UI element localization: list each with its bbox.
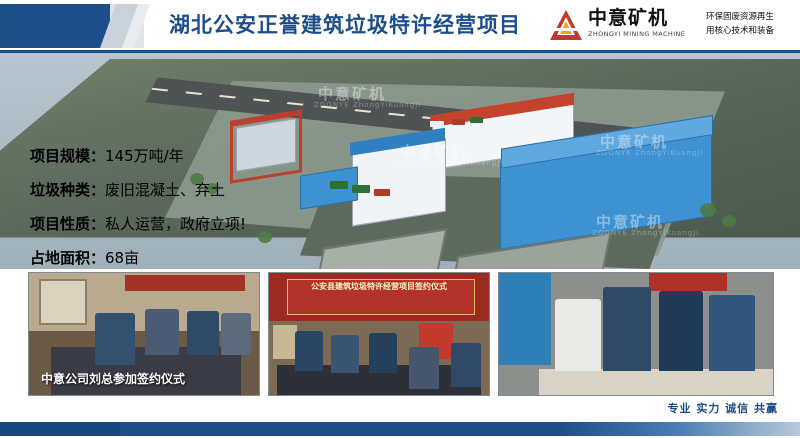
photo3-person-3 bbox=[659, 291, 703, 371]
photo1-banner bbox=[125, 275, 245, 291]
spec-label-waste-type: 垃圾种类： bbox=[30, 181, 105, 199]
photo1-window bbox=[39, 279, 87, 325]
photo-signing-ceremony: 公安县建筑垃圾特许经营项目签约仪式 bbox=[268, 272, 490, 396]
render-tree-4 bbox=[722, 215, 736, 227]
photo2-person-1 bbox=[295, 331, 323, 371]
photo2-person-5 bbox=[451, 343, 481, 387]
render-truck-6 bbox=[470, 117, 483, 123]
zoonye-triangle-logo-icon bbox=[548, 8, 584, 44]
spec-value-scale: 145万吨/年 bbox=[105, 147, 184, 165]
photo2-person-4 bbox=[409, 347, 439, 389]
logo-tagline-line2: 用核心技术和装备 bbox=[706, 24, 774, 38]
watermark-2-sub: ZOONYE ZhongYiKuangJi bbox=[396, 159, 503, 167]
watermark-1-sub: ZOONYE ZhongYiKuangJi bbox=[596, 149, 703, 157]
photo3-person-1 bbox=[555, 299, 601, 371]
spec-value-area: 68亩 bbox=[105, 249, 139, 267]
render-tree-3 bbox=[700, 203, 716, 217]
logo-company-name-cn: 中意矿机 bbox=[588, 8, 668, 29]
photo1-caption: 中意公司刘总参加签约仪式 bbox=[41, 370, 185, 387]
footer-bar bbox=[0, 422, 800, 436]
watermark-3-sub: ZOONYE ZhongYiKuangJi bbox=[592, 229, 699, 237]
spec-row-area: 占地面积：68亩 bbox=[30, 248, 300, 268]
project-spec-list: 项目规模：145万吨/年 垃圾种类：废旧混凝土、弃土 项目性质：私人运营，政府立… bbox=[30, 146, 300, 282]
photo2-person-3 bbox=[369, 333, 397, 373]
photo-signing-office: 中意公司刘总参加签约仪式 bbox=[28, 272, 260, 396]
photo-strip: 中意公司刘总参加签约仪式 公安县建筑垃圾特许经营项目签约仪式 bbox=[28, 272, 772, 394]
footer-slogan: 专业 实力 诚信 共赢 bbox=[668, 400, 779, 416]
render-truck-1 bbox=[330, 181, 348, 189]
spec-label-scale: 项目规模： bbox=[30, 147, 105, 165]
logo-company-name-en: ZHONGYI MINING MACHINE bbox=[588, 30, 685, 38]
spec-label-area: 占地面积： bbox=[30, 249, 105, 267]
photo1-person-1 bbox=[95, 313, 135, 365]
slide-root: 湖北公安正誉建筑垃圾特许经营项目 中意矿机 ZHONGYI MINING MAC… bbox=[0, 0, 800, 438]
spec-label-nature: 项目性质： bbox=[30, 215, 105, 233]
page-title: 湖北公安正誉建筑垃圾特许经营项目 bbox=[150, 10, 540, 40]
render-truck-4 bbox=[430, 121, 444, 127]
spec-row-scale: 项目规模：145万吨/年 bbox=[30, 146, 300, 166]
logo-tagline: 环保固废资源再生 用核心技术和装备 bbox=[706, 10, 774, 38]
photo1-person-3 bbox=[187, 311, 219, 355]
spec-row-waste-type: 垃圾种类：废旧混凝土、弃土 bbox=[30, 180, 300, 200]
photo3-person-4 bbox=[709, 295, 755, 371]
spec-value-waste-type: 废旧混凝土、弃土 bbox=[105, 181, 225, 199]
photo-document-review bbox=[498, 272, 774, 396]
render-truck-5 bbox=[452, 119, 465, 125]
photo3-person-2 bbox=[603, 287, 651, 371]
photo2-poster-left bbox=[273, 325, 297, 359]
watermark-4-sub: ZOONYE ZhongYiKuangJi bbox=[314, 101, 421, 109]
render-truck-3 bbox=[374, 189, 390, 196]
photo3-red-banner bbox=[649, 273, 727, 291]
photo2-person-2 bbox=[331, 335, 359, 373]
render-truck-2 bbox=[352, 185, 370, 193]
slide-header: 湖北公安正誉建筑垃圾特许经营项目 中意矿机 ZHONGYI MINING MAC… bbox=[0, 0, 800, 52]
slide-footer: 专业 实力 诚信 共赢 bbox=[0, 400, 800, 438]
spec-row-nature: 项目性质：私人运营，政府立项! bbox=[30, 214, 300, 234]
header-accent-block bbox=[22, 4, 110, 48]
photo3-cabinet bbox=[499, 273, 551, 365]
photo1-person-2 bbox=[145, 309, 179, 355]
footer-bar-accent bbox=[0, 422, 120, 436]
photo2-banner-text: 公安县建筑垃圾特许经营项目签约仪式 bbox=[311, 281, 447, 292]
company-logo: 中意矿机 ZHONGYI MINING MACHINE 环保固废资源再生 用核心… bbox=[548, 6, 798, 48]
logo-tagline-line1: 环保固废资源再生 bbox=[706, 10, 774, 24]
spec-value-nature: 私人运营，政府立项! bbox=[105, 215, 246, 233]
photo3-desk bbox=[539, 369, 773, 395]
photo1-person-4 bbox=[221, 313, 251, 355]
